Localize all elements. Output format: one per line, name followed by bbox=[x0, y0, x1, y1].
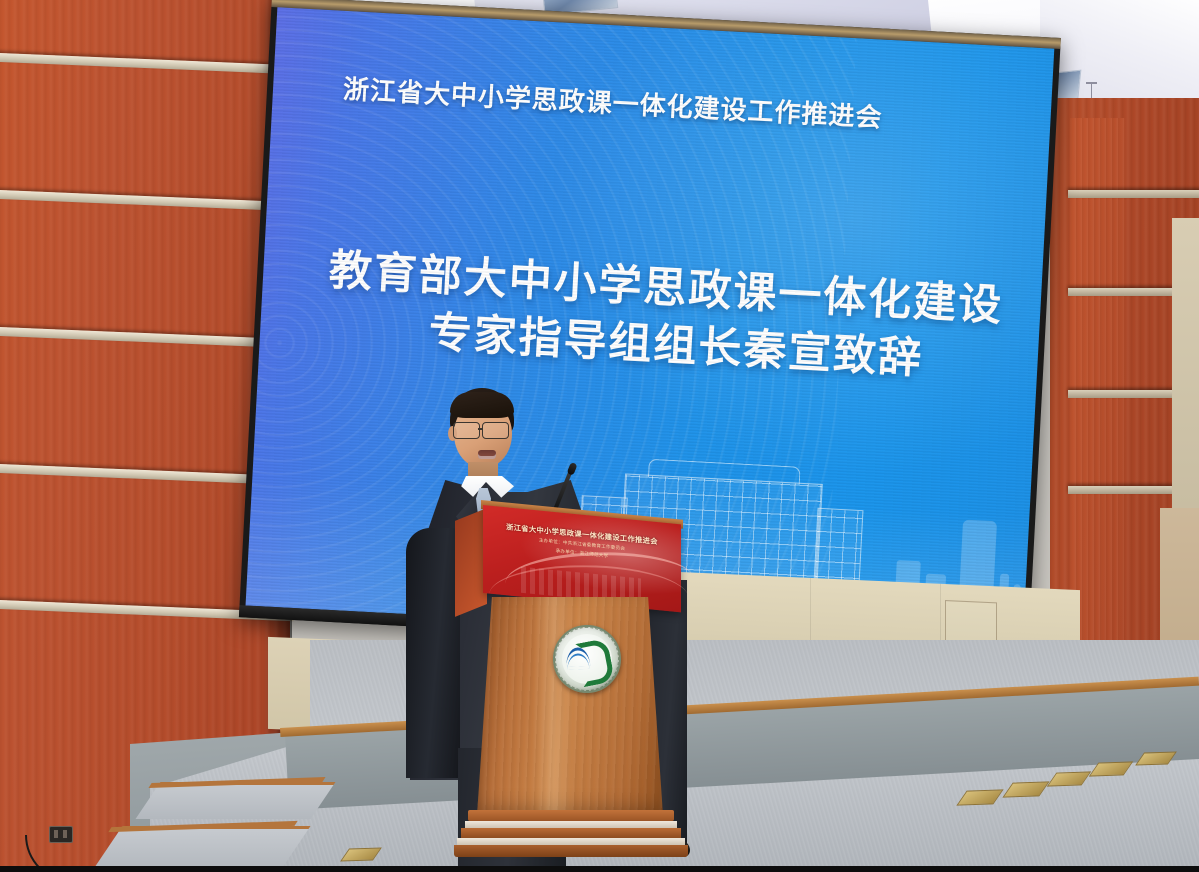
stage-step[interactable] bbox=[136, 782, 336, 819]
glasses-icon bbox=[450, 422, 516, 438]
conference-photo: 浙江省大中小学思政课一体化建设工作推进会 教育部大中小学思政课一体化建设 专家指… bbox=[0, 0, 1199, 872]
speaker-mouth bbox=[478, 450, 496, 459]
speaker-arm bbox=[406, 528, 460, 778]
podium-base-stripe bbox=[465, 821, 677, 828]
wall-accent-strip bbox=[1068, 190, 1199, 198]
podium-base-stripe bbox=[457, 838, 685, 845]
right-wall-beige-panel bbox=[1172, 218, 1199, 508]
podium-base bbox=[454, 845, 688, 857]
podium-base bbox=[461, 828, 681, 838]
podium-banner: 浙江省大中小学思政课一体化建设工作推进会 主办单位：中共浙江省委教育工作委员会 … bbox=[483, 505, 681, 612]
wall-access-plate bbox=[945, 600, 997, 646]
photo-bottom-border bbox=[0, 866, 1199, 872]
podium-base bbox=[468, 810, 674, 821]
speaker-hair-front bbox=[450, 392, 514, 418]
podium: 浙江省大中小学思政课一体化建设工作推进会 主办单位：中共浙江省委教育工作委员会 … bbox=[455, 505, 690, 872]
ceiling-hook-icon bbox=[1091, 84, 1092, 98]
